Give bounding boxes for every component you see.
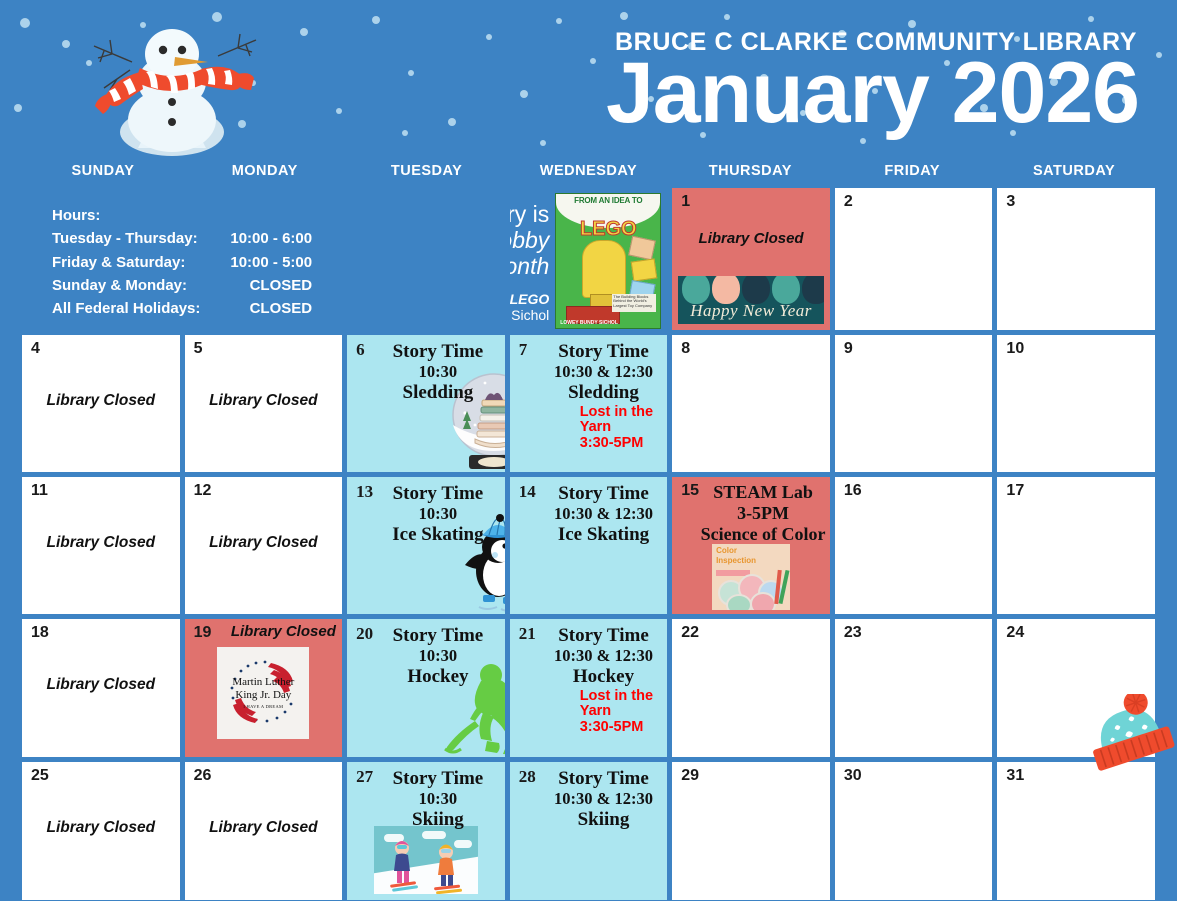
day-number: 22	[681, 624, 699, 642]
day-number: 20	[356, 624, 373, 644]
happy-new-year-text: Happy New Year	[678, 301, 824, 321]
info-panel: Hours: Tuesday - Thursday: 10:00 - 6:00 …	[22, 188, 505, 330]
event-theme: Ice Skating	[377, 524, 499, 546]
weekday-saturday: SATURDAY	[993, 163, 1155, 187]
event-theme: Hockey	[377, 666, 499, 688]
balloon-4	[772, 276, 800, 304]
lego-cover-top-text: FROM AN IDEA TO	[556, 196, 660, 205]
weekday-sunday: SUNDAY	[22, 163, 184, 187]
snowman-icon	[60, 10, 290, 160]
day-number: 11	[31, 482, 48, 500]
alert-line-2: Yarn	[580, 704, 664, 719]
day-cell-4[interactable]: 4 Library Closed	[22, 335, 180, 472]
event-theme: Skiing	[544, 809, 664, 831]
event-title: Story Time	[377, 625, 499, 646]
event-theme: Ice Skating	[544, 524, 664, 546]
day-number: 14	[519, 482, 536, 502]
balloon-5	[802, 276, 824, 304]
hours-value-0: 10:00 - 6:00	[200, 227, 312, 250]
lego-card-2	[631, 258, 658, 281]
day-number: 26	[194, 767, 212, 785]
day-cell-11[interactable]: 11 Library Closed	[22, 477, 180, 614]
day-cell-9[interactable]: 9	[835, 335, 993, 472]
weekday-friday: FRIDAY	[831, 163, 993, 187]
day-number: 12	[194, 482, 212, 500]
day-number: 28	[519, 767, 536, 787]
hobby-month-text: January is National Hobby Month From An …	[510, 202, 550, 323]
hours-label-2: Sunday & Monday:	[52, 274, 200, 297]
event-title: Story Time	[544, 625, 664, 646]
day-cell-13[interactable]: 13 Story Time 10:30 Ice Skating	[347, 477, 505, 614]
day-number: 30	[844, 767, 862, 785]
event-theme: Skiing	[377, 809, 499, 831]
library-closed-label: Library Closed	[185, 534, 343, 552]
mlk-day-image: Martin Luther King Jr. Day I HAVE A DREA…	[217, 647, 309, 739]
alert-line-3: 3:30-5PM	[580, 720, 664, 735]
library-closed-label: Library Closed	[22, 534, 180, 552]
day-cell-12[interactable]: 12 Library Closed	[185, 477, 343, 614]
steam-lab-event: STEAM Lab 3-5PM Science of Color	[700, 482, 826, 545]
event-text: Story Time 10:30 & 12:30 Ice Skating	[544, 483, 664, 546]
day-number: 2	[844, 193, 853, 211]
weekday-wednesday: WEDNESDAY	[508, 163, 670, 187]
lego-book-cover-image: FROM AN IDEA TO LEGO The Building Blocks…	[555, 193, 661, 329]
mlk-line-1: Martin Luther	[232, 676, 294, 689]
day-cell-1[interactable]: 1 Library Closed Happy New Year	[672, 188, 830, 330]
event-text: Story Time 10:30 & 12:30 Skiing	[544, 768, 664, 831]
ci-title-line-2: Inspection	[716, 557, 756, 566]
day-cell-31[interactable]: 31	[997, 762, 1155, 900]
library-closed-label: Library Closed	[185, 819, 343, 837]
day-number: 5	[194, 340, 203, 358]
happy-new-year-image: Happy New Year	[678, 276, 824, 324]
day-number: 17	[1006, 482, 1024, 500]
book-author: by Lowey Bundy Sichol	[510, 307, 550, 323]
day-cell-21[interactable]: 21 Story Time 10:30 & 12:30 Hockey Lost …	[510, 619, 668, 757]
weekday-tuesday: TUESDAY	[346, 163, 508, 187]
event-title: Story Time	[377, 768, 499, 789]
day-number: 18	[31, 624, 49, 642]
event-theme: Sledding	[544, 382, 664, 404]
event-title: Story Time	[377, 483, 499, 504]
day-number: 10	[1006, 340, 1024, 358]
day-number: 9	[844, 340, 853, 358]
day-cell-3[interactable]: 3	[997, 188, 1155, 330]
day-cell-17[interactable]: 17	[997, 477, 1155, 614]
day-cell-7[interactable]: 7 Story Time 10:30 & 12:30 Sledding Lost…	[510, 335, 668, 472]
day-cell-29[interactable]: 29	[672, 762, 830, 900]
event-theme: Hockey	[544, 666, 664, 688]
lego-cover-badge: The Building Blocks Behind the World's L…	[612, 294, 656, 312]
event-text: Story Time 10:30 Hockey	[377, 625, 499, 688]
balloon-3	[742, 276, 770, 304]
day-cell-26[interactable]: 26 Library Closed	[185, 762, 343, 900]
hours-label-1: Friday & Saturday:	[52, 251, 200, 274]
hours-value-2: CLOSED	[200, 274, 312, 297]
day-number: 1	[681, 193, 690, 211]
event-text: Story Time 10:30 Sledding	[377, 341, 499, 404]
event-title: Story Time	[544, 483, 664, 504]
day-cell-18[interactable]: 18 Library Closed	[22, 619, 180, 757]
event-time: 10:30	[377, 789, 499, 809]
event-text: Story Time 10:30 & 12:30 Hockey Lost in …	[544, 625, 664, 735]
calendar-grid: Hours: Tuesday - Thursday: 10:00 - 6:00 …	[22, 188, 1155, 880]
day-cell-30[interactable]: 30	[835, 762, 993, 900]
day-number: 23	[844, 624, 862, 642]
steam-topic: Science of Color	[700, 524, 826, 545]
hours-block: Hours: Tuesday - Thursday: 10:00 - 6:00 …	[52, 204, 312, 320]
day-cell-2[interactable]: 2	[835, 188, 993, 330]
event-title: Story Time	[377, 341, 499, 362]
weekday-header-row: SUNDAY MONDAY TUESDAY WEDNESDAY THURSDAY…	[22, 163, 1155, 187]
event-alert: Lost in the Yarn 3:30-5PM	[544, 405, 664, 451]
event-title: Story Time	[544, 768, 664, 789]
mlk-line-2: King Jr. Day	[232, 689, 294, 702]
balloon-1	[682, 276, 710, 304]
day-cell-28[interactable]: 28 Story Time 10:30 & 12:30 Skiing	[510, 762, 668, 900]
steam-time: 3-5PM	[700, 503, 826, 524]
day-cell-15[interactable]: 15 STEAM Lab 3-5PM Science of Color Colo…	[672, 477, 830, 614]
day-cell-5[interactable]: 5 Library Closed	[185, 335, 343, 472]
day-cell-23[interactable]: 23	[835, 619, 993, 757]
day-number: 3	[1006, 193, 1015, 211]
steam-title: STEAM Lab	[700, 482, 826, 503]
event-time: 10:30	[377, 646, 499, 666]
library-closed-label: Library Closed	[22, 819, 180, 837]
weekday-monday: MONDAY	[184, 163, 346, 187]
event-title: Story Time	[544, 341, 664, 362]
day-number: 29	[681, 767, 699, 785]
day-cell-25[interactable]: 25 Library Closed	[22, 762, 180, 900]
day-cell-10[interactable]: 10	[997, 335, 1155, 472]
event-time: 10:30 & 12:30	[544, 789, 664, 809]
balloon-2	[712, 276, 740, 304]
alert-line-1: Lost in the	[580, 405, 664, 420]
event-time: 10:30 & 12:30	[544, 646, 664, 666]
event-text: Story Time 10:30 Ice Skating	[377, 483, 499, 546]
day-number: 16	[844, 482, 862, 500]
library-closed-label: Library Closed	[185, 392, 343, 410]
library-closed-label: Library Closed	[672, 230, 830, 247]
alert-line-3: 3:30-5PM	[580, 436, 664, 451]
lego-bulb-shape	[582, 240, 626, 298]
day-number: 15	[681, 482, 699, 500]
event-time: 10:30 & 12:30	[544, 362, 664, 382]
day-number: 4	[31, 340, 40, 358]
event-text: Story Time 10:30 Skiing	[377, 768, 499, 831]
day-cell-22[interactable]: 22	[672, 619, 830, 757]
day-cell-14[interactable]: 14 Story Time 10:30 & 12:30 Ice Skating	[510, 477, 668, 614]
event-text: Story Time 10:30 & 12:30 Sledding Lost i…	[544, 341, 664, 451]
ci-title-line-1: Color	[716, 547, 737, 556]
day-cell-8[interactable]: 8	[672, 335, 830, 472]
hobby-month-panel: January is National Hobby Month From An …	[510, 188, 668, 330]
event-time: 10:30 & 12:30	[544, 504, 664, 524]
event-alert: Lost in the Yarn 3:30-5PM	[544, 689, 664, 735]
day-number: 24	[1006, 624, 1024, 642]
day-cell-19[interactable]: 19 Library Closed	[185, 619, 343, 757]
day-number: 31	[1006, 767, 1024, 785]
cup-4	[726, 594, 752, 610]
knit-hat-icon	[1085, 694, 1177, 780]
day-number: 19	[194, 624, 212, 642]
hours-label-0: Tuesday - Thursday:	[52, 227, 200, 250]
day-number: 21	[519, 624, 536, 644]
day-number: 13	[356, 482, 373, 502]
cup-5	[750, 592, 776, 610]
library-closed-label: Library Closed	[231, 623, 337, 640]
book-title: From An Idea to LEGO	[510, 291, 550, 307]
day-cell-16[interactable]: 16	[835, 477, 993, 614]
hobby-line-1: January is	[510, 202, 550, 228]
day-cell-27[interactable]: 27 Story Time 10:30 Skiing	[347, 762, 505, 900]
mlk-text: Martin Luther King Jr. Day I HAVE A DREA…	[232, 676, 294, 709]
event-time: 10:30	[377, 504, 499, 524]
lego-cover-author: LOWEY BUNDY SICHOL	[560, 320, 618, 326]
calendar-page: BRUCE C CLARKE COMMUNITY LIBRARY January…	[0, 0, 1177, 901]
day-cell-20[interactable]: 20 Story Time 10:30 Hockey	[347, 619, 505, 757]
color-inspection-image: Color Inspection	[712, 544, 790, 610]
day-number: 27	[356, 767, 373, 787]
hours-label-3: All Federal Holidays:	[52, 297, 200, 320]
day-number: 6	[356, 340, 365, 360]
library-closed-label: Library Closed	[22, 392, 180, 410]
day-number: 7	[519, 340, 528, 360]
event-theme: Sledding	[377, 382, 499, 404]
mlk-line-3: I HAVE A DREAM	[232, 704, 294, 709]
hours-heading: Hours:	[52, 204, 200, 227]
weekday-thursday: THURSDAY	[669, 163, 831, 187]
skiing-kids-image	[374, 826, 478, 894]
hours-value-3: CLOSED	[200, 297, 312, 320]
calendar-header: BRUCE C CLARKE COMMUNITY LIBRARY January…	[0, 0, 1177, 160]
alert-line-1: Lost in the	[580, 689, 664, 704]
hours-value-1: 10:00 - 5:00	[200, 251, 312, 274]
event-time: 10:30	[377, 362, 499, 382]
day-number: 8	[681, 340, 690, 358]
library-closed-label: Library Closed	[22, 676, 180, 694]
day-number: 25	[31, 767, 49, 785]
lego-card-1	[628, 236, 656, 261]
hobby-line-3: Month	[510, 254, 550, 280]
day-cell-6[interactable]: 6 Story Time 10:30 Sledding	[347, 335, 505, 472]
hobby-line-2: National Hobby	[510, 228, 550, 254]
alert-line-2: Yarn	[580, 420, 664, 435]
page-title: January 2026	[606, 50, 1139, 136]
